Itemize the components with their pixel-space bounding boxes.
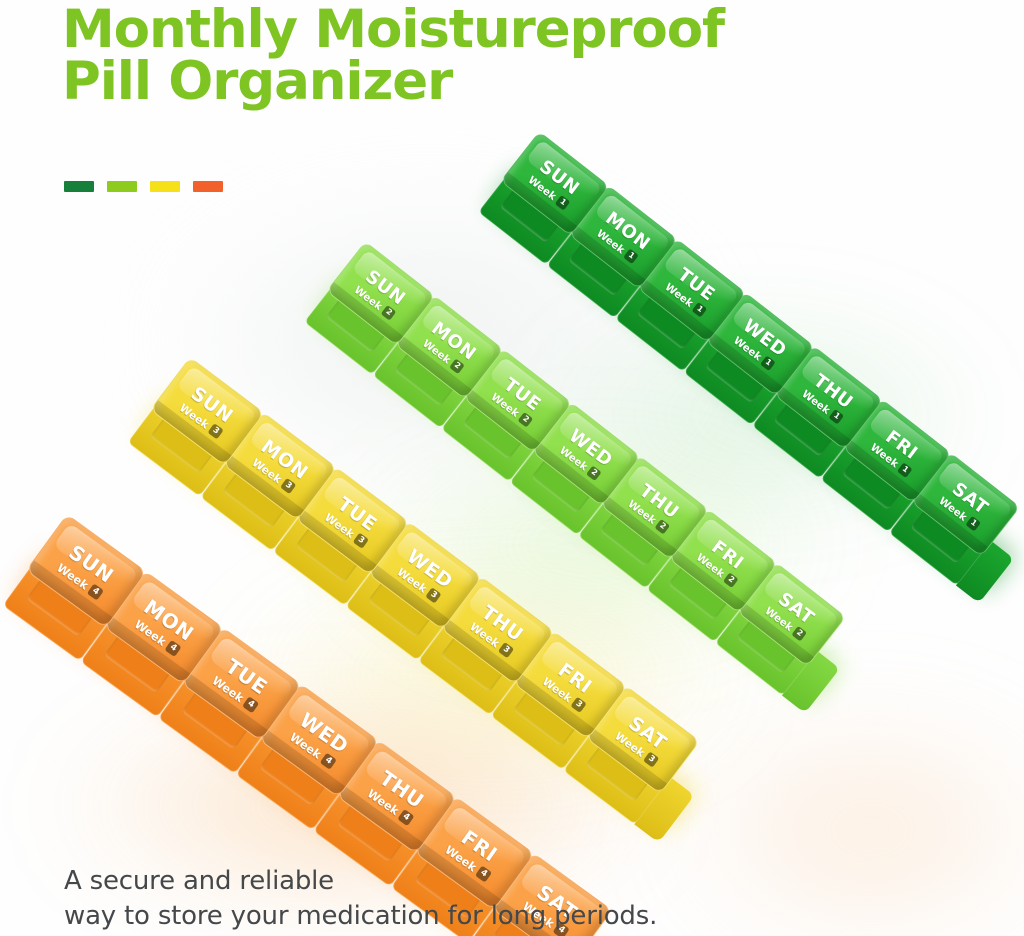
week-number-badge: 1 <box>897 462 913 478</box>
caption-line-2: way to store your medication for long pe… <box>64 899 657 934</box>
lime-green-organizer[interactable]: SUNWeek2MONWeek2TUEWeek2WEDWeek2THUWeek2… <box>303 241 868 713</box>
page-title: Monthly Moistureproof Pill Organizer <box>62 4 842 109</box>
caption: A secure and reliable way to store your … <box>64 864 657 933</box>
page-title-line-1: Monthly Moistureproof <box>62 4 842 56</box>
color-swatch-strip <box>64 181 223 192</box>
product-image-canvas: SUNWeek1MONWeek1TUEWeek1WEDWeek1THUWeek1… <box>0 0 1024 936</box>
week-number-badge: 4 <box>397 809 414 826</box>
week-number-badge: 4 <box>320 753 337 770</box>
week-number-badge: 4 <box>164 640 181 657</box>
page-title-line-2: Pill Organizer <box>62 56 842 108</box>
week-number-badge: 4 <box>242 696 259 713</box>
caption-line-1: A secure and reliable <box>64 864 657 899</box>
color-swatch-dark-green <box>64 181 94 192</box>
color-swatch-yellow <box>150 181 180 192</box>
background-glow-warm <box>660 700 1024 936</box>
week-number-badge: 4 <box>87 583 104 600</box>
dark-green-organizer[interactable]: SUNWeek1MONWeek1TUEWeek1WEDWeek1THUWeek1… <box>477 131 1024 603</box>
color-swatch-lime-green <box>107 181 137 192</box>
yellow-organizer[interactable]: SUNWeek3MONWeek3TUEWeek3WEDWeek3THUWeek3… <box>126 357 723 843</box>
week-number-badge: 3 <box>570 697 586 713</box>
week-number-badge: 2 <box>723 572 739 588</box>
color-swatch-orange <box>193 181 223 192</box>
